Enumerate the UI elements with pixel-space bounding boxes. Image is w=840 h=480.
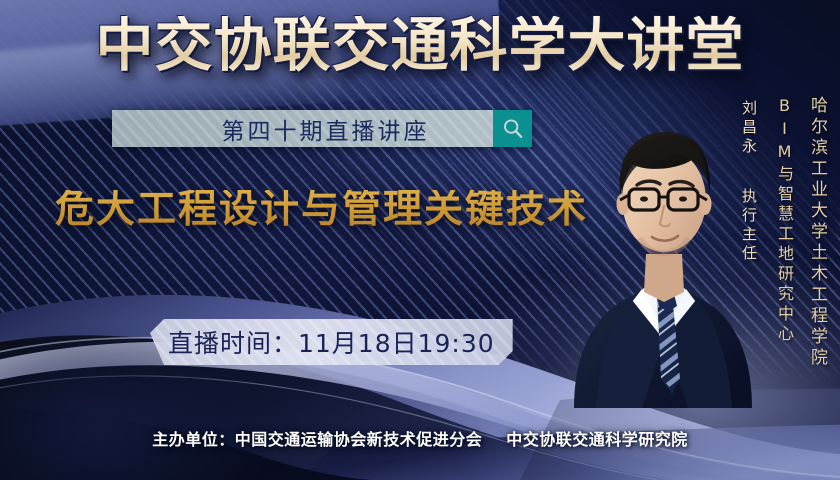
- poster-canvas: 中交协联交通科学大讲堂 第四十期直播讲座 危大工程设计与管理关键技术 直播时间：…: [0, 0, 840, 480]
- lecture-title: 危大工程设计与管理关键技术: [55, 190, 588, 229]
- speaker-role: 执行主任: [739, 188, 760, 264]
- speaker-portrait-svg: [560, 78, 760, 408]
- speaker-name: 刘昌永: [739, 100, 760, 157]
- footer-organizer-2: 中交协联交通科学研究院: [506, 430, 688, 449]
- episode-banner: 第四十期直播讲座: [112, 110, 532, 147]
- episode-label: 第四十期直播讲座: [112, 110, 493, 147]
- search-icon-container[interactable]: [493, 110, 532, 147]
- footer-prefix: 主办单位：: [152, 430, 235, 449]
- live-time-badge: 直播时间：11月18日19:30: [150, 319, 513, 365]
- search-icon: [501, 117, 525, 141]
- footer-organizers: 主办单位：中国交通运输协会新技术促进分会中交协联交通科学研究院: [0, 426, 840, 450]
- page-title: 中交协联交通科学大讲堂: [0, 16, 840, 74]
- speaker-portrait: [560, 78, 760, 408]
- speaker-organization: 哈尔滨工业大学土木工程学院: [805, 96, 830, 369]
- speaker-neck: [644, 254, 684, 302]
- footer-organizer-1: 中国交通运输协会新技术促进分会: [235, 430, 483, 449]
- speaker-eye-left: [640, 196, 648, 201]
- speaker-research-center: BIM与智慧工地研究中心: [772, 96, 796, 345]
- speaker-eye-right: [679, 196, 687, 201]
